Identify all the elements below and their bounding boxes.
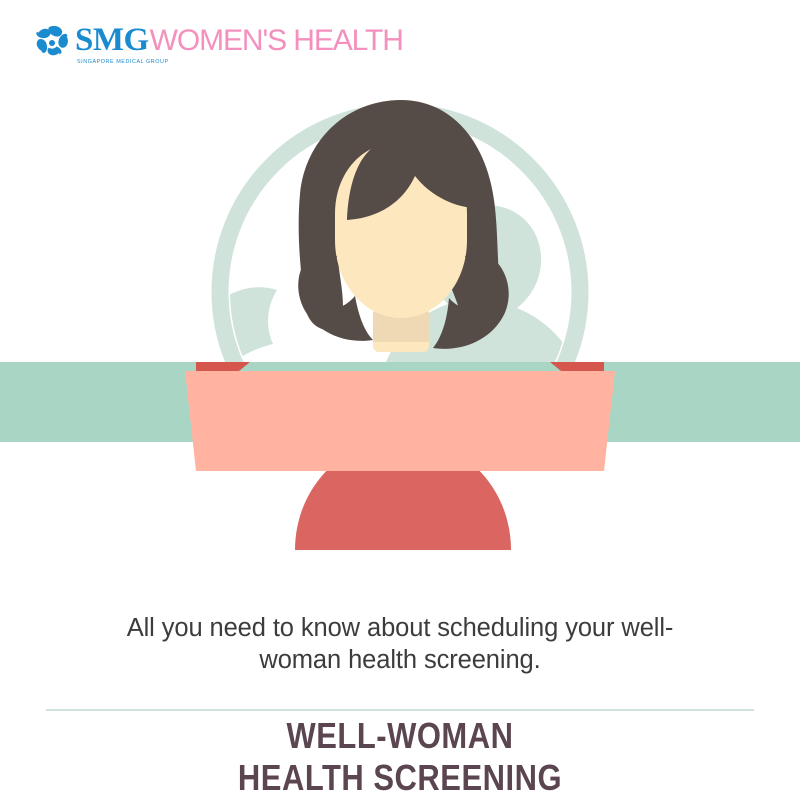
brand-wordmark: SMG SINGAPORE MEDICAL GROUP WOMEN'S HEAL… bbox=[75, 24, 403, 62]
ribbon-face bbox=[185, 371, 615, 471]
title-ribbon: WELL-WOMAN HEALTH SCREENING bbox=[0, 348, 800, 488]
ribbon-title-line-2: HEALTH SCREENING bbox=[56, 757, 744, 798]
brand-tagline: SINGAPORE MEDICAL GROUP bbox=[77, 59, 169, 65]
caption-text: All you need to know about scheduling yo… bbox=[90, 612, 710, 676]
ribbon-title: WELL-WOMAN HEALTH SCREENING bbox=[56, 715, 744, 798]
ribbon-graphic bbox=[0, 348, 800, 488]
ribbon-title-line-1: WELL-WOMAN bbox=[56, 715, 744, 757]
brand-acronym: SMG bbox=[75, 24, 149, 57]
footer-divider bbox=[46, 709, 754, 711]
poster-canvas: SMG SINGAPORE MEDICAL GROUP WOMEN'S HEAL… bbox=[0, 0, 800, 798]
brand-logo[interactable]: SMG SINGAPORE MEDICAL GROUP WOMEN'S HEAL… bbox=[33, 22, 403, 64]
smg-pinwheel-logo-icon bbox=[33, 24, 71, 62]
brand-division: WOMEN'S HEALTH bbox=[150, 26, 403, 56]
